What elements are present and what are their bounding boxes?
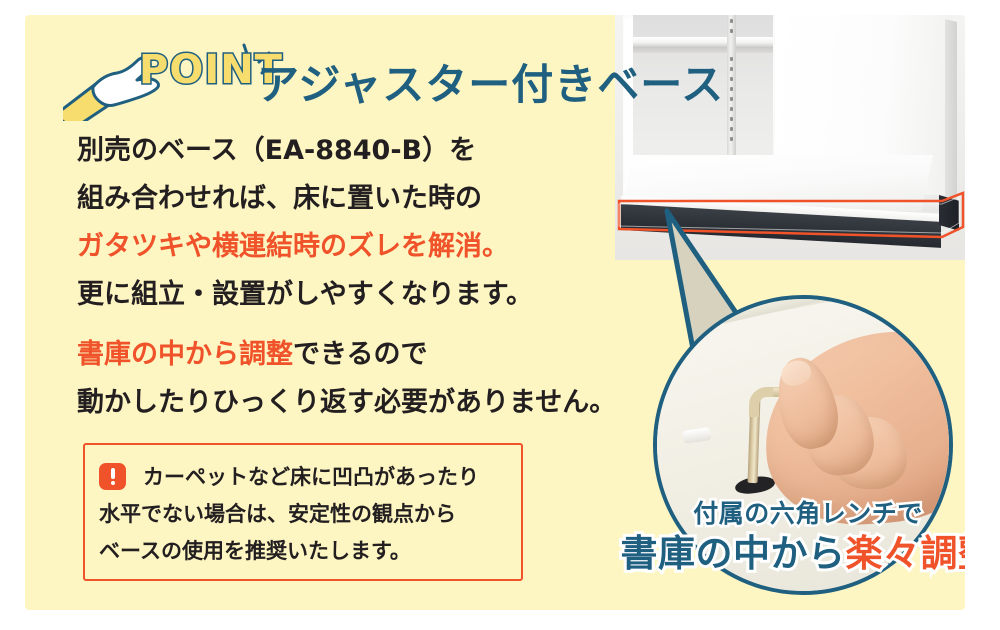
note-line: 水平でない場合は、安定性の観点から bbox=[99, 496, 511, 533]
shelf-peg-hole bbox=[730, 29, 733, 33]
shelf-peg-hole bbox=[730, 137, 733, 141]
body-line-mixed: 書庫の中から調整できるので bbox=[77, 331, 637, 379]
body-line: 組み合わせれば、床に置いた時の bbox=[77, 175, 597, 223]
page-title: アジャスター付きベース bbox=[257, 51, 724, 112]
body-rest-span: できるので bbox=[293, 339, 427, 370]
shelf-peg-hole bbox=[730, 19, 733, 23]
body-line: 別売のベース（EA-8840-B）を bbox=[77, 127, 597, 175]
shelf-peg-hole bbox=[730, 97, 733, 101]
note-text: カーペットなど床に凹凸があったり 水平でない場合は、安定性の観点から ベースの使… bbox=[99, 459, 511, 570]
shelf-peg-hole bbox=[730, 67, 733, 71]
point-badge: POINT bbox=[63, 43, 283, 121]
note-line: カーペットなど床に凹凸があったり bbox=[99, 459, 511, 496]
cabinet-shelf-upright bbox=[727, 15, 736, 175]
body-line-accent: ガタツキや横連結時のズレを解消。 bbox=[77, 223, 597, 271]
shelf-peg-hole bbox=[730, 57, 733, 61]
shelf-peg-hole bbox=[730, 127, 733, 131]
note-box: カーペットなど床に凹凸があったり 水平でない場合は、安定性の観点から ベースの使… bbox=[83, 443, 523, 581]
note-line: ベースの使用を推奨いたします。 bbox=[99, 533, 511, 570]
body-paragraph-1: 別売のベース（EA-8840-B）を 組み合わせれば、床に置いた時の ガタツキや… bbox=[77, 127, 597, 319]
base-side-face bbox=[939, 195, 959, 231]
body-line: 更に組立・設置がしやすくなります。 bbox=[77, 271, 597, 319]
shelf-peg-hole bbox=[730, 117, 733, 121]
cabinet-shelf bbox=[633, 37, 773, 47]
poster-stage: POINT アジャスター付きベース 別売のベース（EA-8840-B）を 組み合… bbox=[0, 0, 1000, 630]
cabinet-side-edge bbox=[945, 19, 957, 200]
shelf-peg-hole bbox=[730, 77, 733, 81]
body-paragraph-2: 書庫の中から調整できるので 動かしたりひっくり返す必要がありません。 bbox=[77, 331, 637, 427]
body-accent-span: 書庫の中から調整 bbox=[77, 339, 293, 370]
wrench-photo-bubble bbox=[653, 295, 953, 595]
shelf-peg-hole bbox=[730, 107, 733, 111]
content-panel: POINT アジャスター付きベース 別売のベース（EA-8840-B）を 組み合… bbox=[25, 15, 965, 610]
shelf-peg-hole bbox=[730, 87, 733, 91]
body-line: 動かしたりひっくり返す必要がありません。 bbox=[77, 379, 637, 427]
